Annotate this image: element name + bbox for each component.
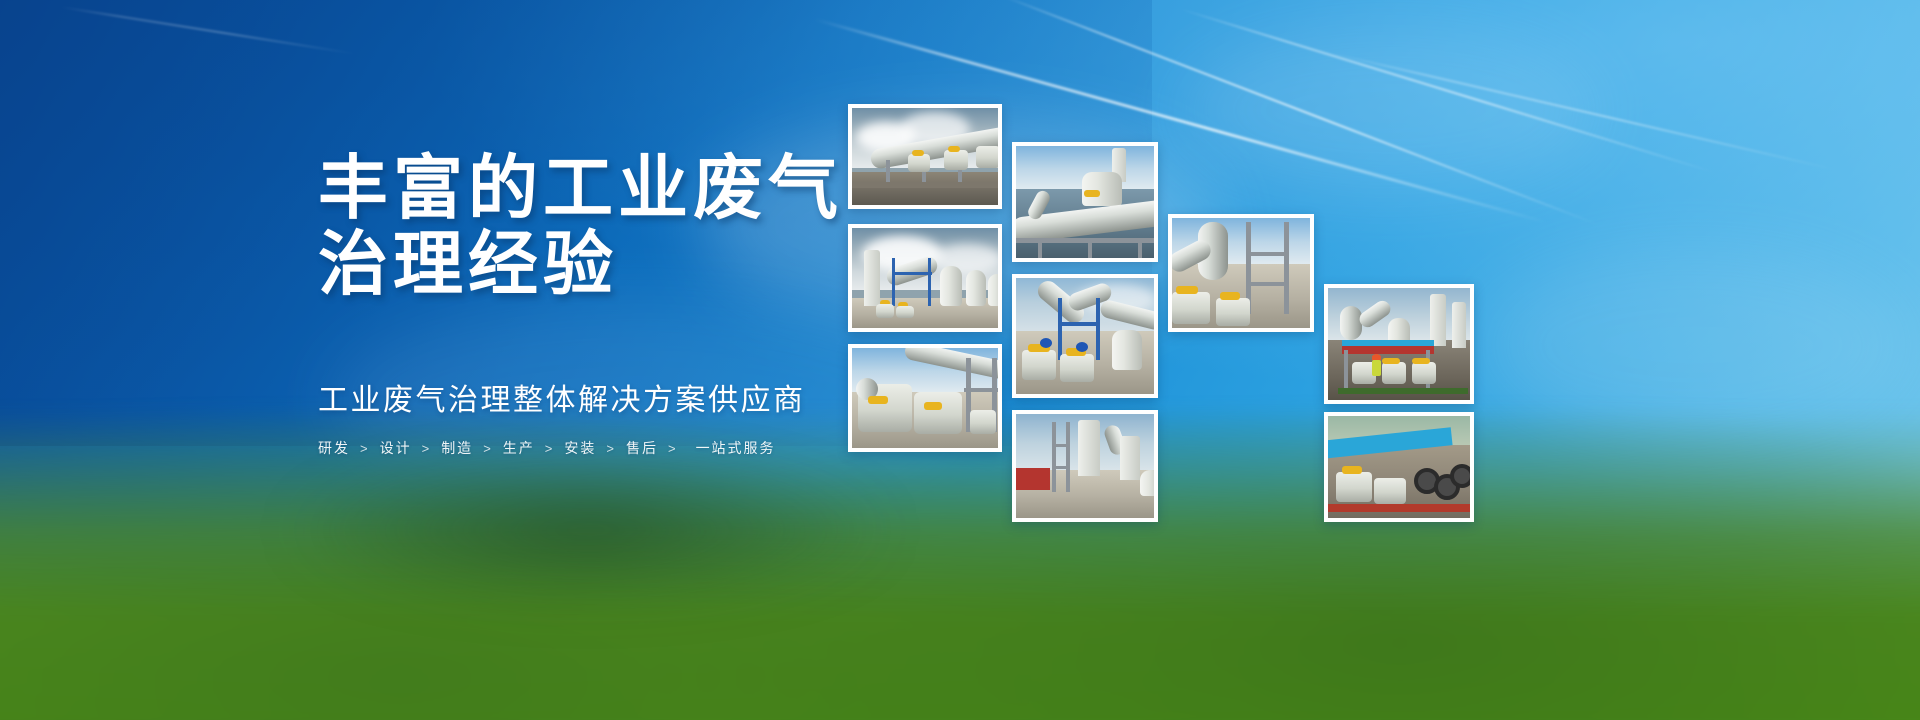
process-step-design: 设计: [380, 438, 412, 458]
collage-photo-3[interactable]: [848, 344, 1002, 452]
collage-photo-8[interactable]: [1324, 284, 1474, 404]
chevron-right-icon: >: [483, 441, 493, 456]
hero-banner: 丰富的工业废气 治理经验 工业废气治理整体解决方案供应商 研发 > 设计 > 制…: [0, 0, 1920, 720]
chevron-right-icon: >: [606, 441, 616, 456]
chevron-right-icon: >: [545, 441, 555, 456]
chevron-right-icon: >: [422, 441, 432, 456]
subtitle-block: 工业废气治理整体解决方案供应商 研发 > 设计 > 制造 > 生产 > 安装 >…: [318, 382, 878, 458]
process-step-manufacture: 制造: [441, 438, 473, 458]
collage-photo-5[interactable]: [1012, 274, 1158, 398]
page-title: 丰富的工业废气 治理经验: [318, 150, 878, 302]
process-step-production: 生产: [503, 438, 535, 458]
hero-subtitle: 工业废气治理整体解决方案供应商: [318, 382, 878, 420]
collage-photo-1[interactable]: [848, 104, 1002, 209]
collage-photo-2[interactable]: [848, 224, 1002, 332]
process-chain: 研发 > 设计 > 制造 > 生产 > 安装 > 售后 > 一站式服务: [318, 438, 878, 458]
collage-photo-9[interactable]: [1324, 412, 1474, 522]
collage-photo-6[interactable]: [1012, 410, 1158, 522]
process-step-installation: 安装: [564, 438, 596, 458]
chevron-right-icon: >: [668, 441, 678, 456]
process-step-one-stop-service: 一站式服务: [696, 438, 776, 458]
collage-photo-7[interactable]: [1168, 214, 1314, 332]
photo-collage: [848, 104, 1858, 524]
hero-copy-block: 丰富的工业废气 治理经验 工业废气治理整体解决方案供应商 研发 > 设计 > 制…: [318, 150, 878, 458]
chevron-right-icon: >: [360, 441, 370, 456]
process-step-rd: 研发: [318, 438, 350, 458]
collage-photo-4[interactable]: [1012, 142, 1158, 262]
process-step-after-sales: 售后: [626, 438, 658, 458]
